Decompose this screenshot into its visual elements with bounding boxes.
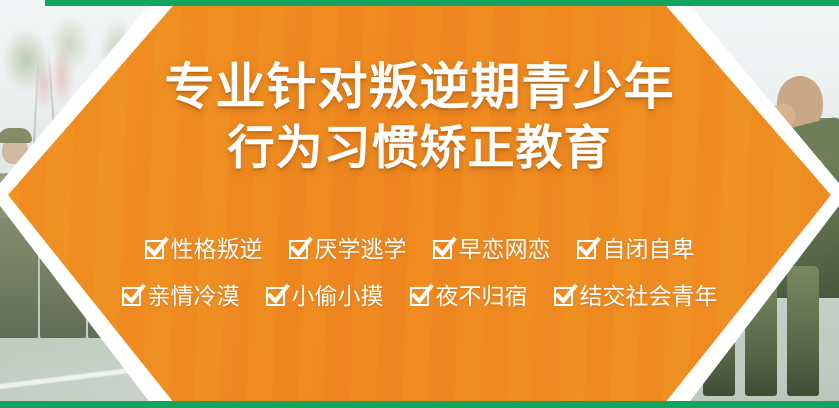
checklist-item-label: 亲情冷漠: [148, 285, 240, 308]
checkbox-checked-icon: [289, 240, 308, 259]
checklist-item-label: 早恋网恋: [459, 238, 551, 261]
headline-line-2: 行为习惯矫正教育: [0, 120, 839, 176]
checklist-item-label: 自闭自卑: [603, 238, 695, 261]
banner-content: 专业针对叛逆期青少年 行为习惯矫正教育 性格叛逆: [0, 0, 839, 408]
feature-checklist: 性格叛逆 厌学逃学 早恋网恋: [0, 238, 839, 332]
checklist-row-1: 性格叛逆 厌学逃学 早恋网恋: [0, 238, 839, 261]
checkbox-checked-icon: [145, 240, 164, 259]
checklist-item: 亲情冷漠: [122, 285, 240, 308]
checkbox-checked-icon: [266, 287, 285, 306]
checklist-item: 厌学逃学: [289, 238, 407, 261]
checklist-item: 性格叛逆: [145, 238, 263, 261]
top-green-rule: [45, 0, 839, 6]
promo-banner: 专业针对叛逆期青少年 行为习惯矫正教育 性格叛逆: [0, 0, 839, 408]
checklist-item-label: 性格叛逆: [171, 238, 263, 261]
checkbox-checked-icon: [410, 287, 429, 306]
checklist-item: 夜不归宿: [410, 285, 528, 308]
checklist-item-label: 夜不归宿: [436, 285, 528, 308]
checkbox-checked-icon: [122, 287, 141, 306]
checklist-item-label: 小偷小摸: [292, 285, 384, 308]
checklist-item-label: 厌学逃学: [315, 238, 407, 261]
checklist-item: 自闭自卑: [577, 238, 695, 261]
headline: 专业针对叛逆期青少年 行为习惯矫正教育: [0, 58, 839, 176]
bottom-green-rule: [0, 401, 839, 408]
checkbox-checked-icon: [577, 240, 596, 259]
checklist-item: 早恋网恋: [433, 238, 551, 261]
checklist-item: 小偷小摸: [266, 285, 384, 308]
checkbox-checked-icon: [554, 287, 573, 306]
checklist-row-2: 亲情冷漠 小偷小摸 夜不归宿: [0, 285, 839, 308]
checklist-item: 结交社会青年: [554, 285, 718, 308]
checkbox-checked-icon: [433, 240, 452, 259]
headline-line-1: 专业针对叛逆期青少年: [0, 58, 839, 116]
checklist-item-label: 结交社会青年: [580, 285, 718, 308]
